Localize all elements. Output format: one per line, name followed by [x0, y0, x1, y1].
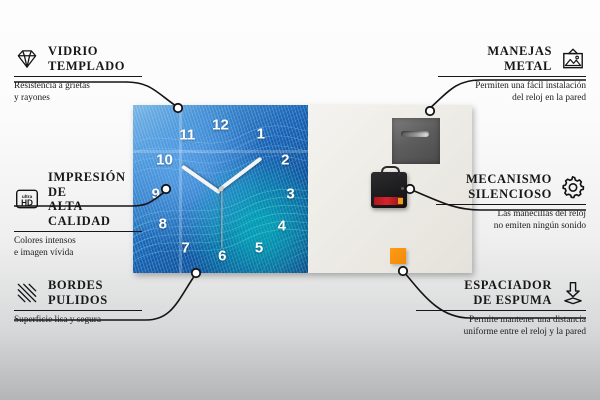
clock-numeral-5: 5 — [255, 239, 263, 256]
feature-desc-line-2: no emiten ningún sonido — [436, 221, 586, 233]
feature-header: MECANISMO SILENCIOSO — [436, 172, 586, 201]
diagonal-lines-icon — [14, 280, 40, 306]
foam-spacer-part — [390, 248, 406, 264]
feature-header: BORDES PULIDOS — [14, 278, 142, 307]
mechanism-dot — [401, 187, 404, 190]
clock-mechanism-part — [371, 172, 407, 208]
feature-divider — [436, 204, 586, 205]
feature-title: MECANISMO SILENCIOSO — [466, 172, 552, 201]
feature-divider — [14, 310, 142, 311]
metal-hanger-part — [392, 118, 440, 164]
clock-numeral-8: 8 — [159, 216, 167, 233]
clock-numeral-12: 12 — [212, 117, 229, 134]
mechanism-loop — [381, 166, 400, 176]
feature-header: ultra HD IMPRESIÓN DE ALTA CALIDAD — [14, 170, 142, 228]
clock-numeral-4: 4 — [278, 217, 286, 234]
gear-icon — [560, 174, 586, 200]
clock-center-hub — [218, 187, 223, 192]
feature-title: MANEJAS METAL — [487, 44, 552, 73]
svg-text:HD: HD — [21, 199, 33, 208]
feature-desc-line-1: Resistencia a grietas — [14, 81, 142, 93]
clock-numeral-9: 9 — [152, 186, 160, 203]
clock-numeral-6: 6 — [218, 248, 226, 265]
feature-divider — [416, 310, 586, 311]
diamond-icon — [14, 46, 40, 72]
feature-title: BORDES PULIDOS — [48, 278, 108, 307]
clock-numeral-1: 1 — [257, 125, 265, 142]
feature-desc-line-1: Las manecillas del reloj — [436, 209, 586, 221]
feature-impresion-alta-calidad: ultra HD IMPRESIÓN DE ALTA CALIDAD Color… — [14, 170, 142, 259]
feature-espaciador-espuma: ESPACIADOR DE ESPUMA Permite mantener un… — [416, 278, 586, 338]
clock-numeral-3: 3 — [286, 186, 294, 203]
feature-vidrio-templado: VIDRIO TEMPLADO Resistencia a grietas y … — [14, 44, 142, 104]
feature-header: ESPACIADOR DE ESPUMA — [416, 278, 586, 307]
feature-divider — [14, 76, 142, 77]
arrow-down-layers-icon — [560, 280, 586, 306]
feature-desc-line-2: e imagen vívida — [14, 248, 142, 260]
feature-title: IMPRESIÓN DE ALTA CALIDAD — [48, 170, 142, 228]
clock-numeral-10: 10 — [156, 152, 173, 169]
clock-numeral-2: 2 — [281, 152, 289, 169]
feature-desc-line-2: y rayones — [14, 93, 142, 105]
feature-desc-line-2: del reloj en la pared — [438, 93, 586, 105]
feature-title: ESPACIADOR DE ESPUMA — [464, 278, 552, 307]
feature-header: VIDRIO TEMPLADO — [14, 44, 142, 73]
feature-mecanismo-silencioso: MECANISMO SILENCIOSO Las manecillas del … — [436, 172, 586, 232]
feature-desc-line-2: uniforme entre el reloj y la pared — [416, 327, 586, 339]
feature-desc-line-1: Superficie lisa y segura — [14, 315, 142, 327]
battery-tip — [398, 198, 403, 204]
feature-desc-line-1: Permite mantener una distancia — [416, 315, 586, 327]
feature-manejas-metal: MANEJAS METAL Permiten una fácil instala… — [438, 44, 586, 104]
feature-divider — [438, 76, 586, 77]
feature-desc-line-1: Colores intensos — [14, 236, 142, 248]
hanger-slot — [401, 131, 429, 137]
feature-desc-line-1: Permiten una fácil instalación — [438, 81, 586, 93]
clock-front-image: 12 1 2 3 4 5 6 7 8 9 10 11 — [133, 105, 308, 273]
feature-header: MANEJAS METAL — [438, 44, 586, 73]
feature-bordes-pulidos: BORDES PULIDOS Superficie lisa y segura — [14, 278, 142, 327]
feature-title: VIDRIO TEMPLADO — [48, 44, 125, 73]
feature-divider — [14, 231, 142, 232]
picture-hanger-icon — [560, 46, 586, 72]
infographic-stage: 12 1 2 3 4 5 6 7 8 9 10 11 — [0, 0, 600, 400]
clock-numeral-11: 11 — [179, 127, 195, 144]
clock-second-hand — [221, 190, 222, 248]
clock-numeral-7: 7 — [181, 239, 189, 256]
ultra-hd-icon: ultra HD — [14, 186, 40, 212]
